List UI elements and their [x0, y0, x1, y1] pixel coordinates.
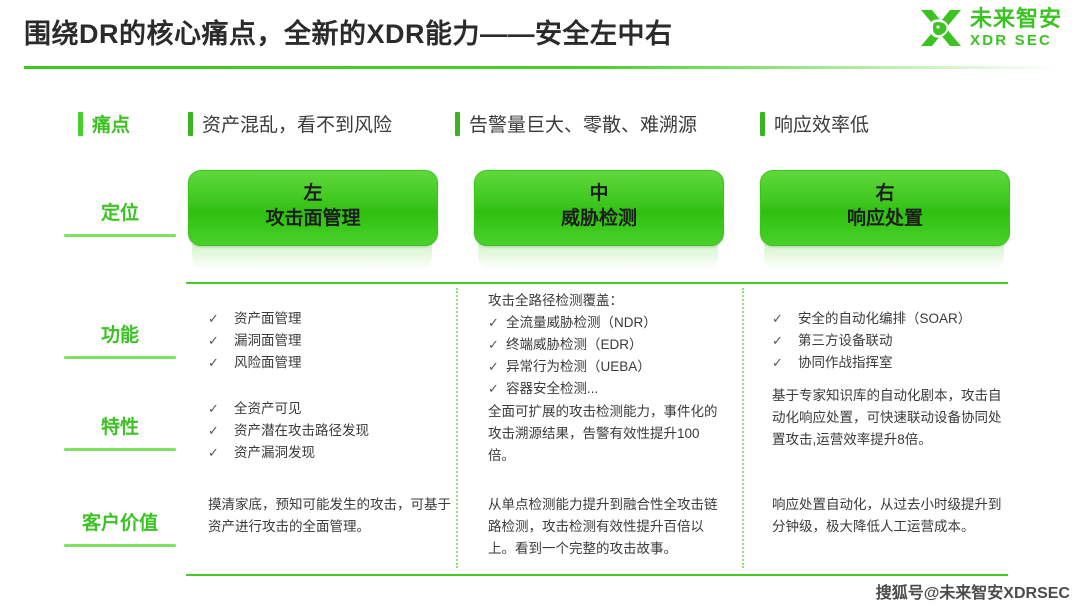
row-label-text: 客户价值 — [64, 508, 176, 535]
column-divider-1 — [456, 288, 458, 568]
check-icon: ✓ — [208, 330, 220, 351]
value-left-text: 摸清家底，预知可能发生的攻击，可基于资产进行攻击的全面管理。 — [208, 494, 456, 538]
accent-bar-icon — [78, 112, 83, 136]
list-item-text: 容器安全检测... — [506, 378, 598, 400]
row-label-text: 定位 — [64, 198, 176, 225]
list-item-text: 全资产可见 — [234, 398, 302, 420]
section-divider-bottom — [186, 574, 1008, 576]
function-cell-right: ✓安全的自动化编排（SOAR） ✓第三方设备联动 ✓协同作战指挥室 — [772, 308, 971, 374]
check-icon: ✓ — [488, 356, 500, 377]
pain-point-item-1: 资产混乱，看不到风险 — [188, 110, 392, 137]
row-label-customer-value: 客户价值 — [64, 508, 176, 547]
logo-cn: 未来智安 — [970, 8, 1062, 30]
pain-point-label-cell: 痛点 — [78, 110, 130, 137]
check-icon: ✓ — [772, 330, 784, 351]
pain-point-text: 响应效率低 — [774, 110, 869, 137]
feature-right-text: 基于专家知识库的自动化剧本，攻击自动化响应处置，可快速联动设备协同处置攻击,运营… — [772, 385, 1010, 451]
row-label-function: 功能 — [64, 320, 176, 359]
list-item: ✓异常行为检测（UEBA） — [488, 356, 657, 378]
list-item-text: 风险面管理 — [234, 352, 302, 374]
feature-middle-text: 全面可扩展的攻击检测能力，事件化的攻击溯源结果，告警有效性提升100倍。 — [488, 401, 726, 467]
list-item: ✓全资产可见 — [208, 398, 369, 420]
pain-point-item-3: 响应效率低 — [760, 110, 869, 137]
list-item-text: 异常行为检测（UEBA） — [506, 356, 651, 378]
list-item: ✓容器安全检测... — [488, 378, 657, 400]
x-fox-logo-icon — [919, 8, 963, 48]
pain-point-text: 告警量巨大、零散、难溯源 — [469, 110, 697, 137]
value-cell-right: 响应处置自动化，从过去小时级提升到分钟级，极大降低人工运营成本。 — [772, 494, 1010, 538]
position-box-reflection — [478, 244, 718, 270]
check-icon: ✓ — [208, 352, 220, 373]
row-label-underline — [64, 356, 176, 359]
function-left-list: ✓资产面管理 ✓漏洞面管理 ✓风险面管理 — [208, 308, 302, 374]
position-box-reflection — [192, 244, 432, 270]
list-item: ✓漏洞面管理 — [208, 330, 302, 352]
check-icon: ✓ — [208, 420, 220, 441]
pain-point-label: 痛点 — [92, 110, 130, 137]
pain-point-text: 资产混乱，看不到风险 — [202, 110, 392, 137]
logo-en: XDR SEC — [970, 33, 1062, 48]
accent-bar-icon — [455, 112, 460, 136]
function-right-list: ✓安全的自动化编排（SOAR） ✓第三方设备联动 ✓协同作战指挥室 — [772, 308, 971, 374]
pain-point-row: 痛点 资产混乱，看不到风险 告警量巨大、零散、难溯源 响应效率低 — [0, 106, 1080, 146]
list-item: ✓安全的自动化编排（SOAR） — [772, 308, 971, 330]
position-box-title: 左 — [303, 183, 322, 205]
value-cell-middle: 从单点检测能力提升到融合性全攻击链路检测，攻击检测有效性提升百倍以上。看到一个完… — [488, 494, 728, 560]
list-item-text: 终端威胁检测（EDR） — [506, 334, 643, 356]
accent-bar-icon — [760, 112, 765, 136]
list-item-text: 协同作战指挥室 — [798, 352, 893, 374]
row-label-underline — [64, 234, 176, 237]
value-right-text: 响应处置自动化，从过去小时级提升到分钟级，极大降低人工运营成本。 — [772, 494, 1010, 538]
function-cell-middle: 攻击全路径检测覆盖： ✓全流量威胁检测（NDR） ✓终端威胁检测（EDR） ✓异… — [488, 291, 657, 399]
row-label-feature: 特性 — [64, 412, 176, 451]
check-icon: ✓ — [488, 312, 500, 333]
position-box-subtitle: 响应处置 — [847, 205, 923, 234]
list-item-text: 第三方设备联动 — [798, 330, 893, 352]
list-item-text: 漏洞面管理 — [234, 330, 302, 352]
row-label-positioning: 定位 — [64, 198, 176, 237]
position-box-subtitle: 威胁检测 — [561, 205, 637, 234]
value-middle-text: 从单点检测能力提升到融合性全攻击链路检测，攻击检测有效性提升百倍以上。看到一个完… — [488, 494, 728, 560]
watermark: 搜狐号@未来智安XDRSEC — [876, 579, 1070, 603]
feature-left-list: ✓全资产可见 ✓资产潜在攻击路径发现 ✓资产漏洞发现 — [208, 398, 369, 464]
check-icon: ✓ — [488, 334, 500, 355]
row-label-underline — [64, 544, 176, 547]
list-item-text: 资产面管理 — [234, 308, 302, 330]
list-item-text: 资产潜在攻击路径发现 — [234, 420, 369, 442]
slide-header: 围绕DR的核心痛点，全新的XDR能力——安全左中右 未来智安 XDR SEC — [0, 0, 1080, 66]
row-label-underline — [64, 448, 176, 451]
column-divider-2 — [742, 288, 744, 568]
list-item: ✓风险面管理 — [208, 352, 302, 374]
check-icon: ✓ — [208, 442, 220, 463]
brand-logo: 未来智安 XDR SEC — [919, 8, 1062, 48]
list-item: ✓第三方设备联动 — [772, 330, 971, 352]
list-item: ✓终端威胁检测（EDR） — [488, 334, 657, 356]
feature-cell-middle: 全面可扩展的攻击检测能力，事件化的攻击溯源结果，告警有效性提升100倍。 — [488, 401, 726, 467]
pain-point-item-2: 告警量巨大、零散、难溯源 — [455, 110, 697, 137]
row-label-text: 功能 — [64, 320, 176, 347]
list-item: ✓协同作战指挥室 — [772, 352, 971, 374]
position-box-middle[interactable]: 中 威胁检测 — [474, 170, 724, 246]
check-icon: ✓ — [488, 378, 500, 399]
position-box-left[interactable]: 左 攻击面管理 — [188, 170, 438, 246]
list-item: ✓资产漏洞发现 — [208, 442, 369, 464]
function-cell-left: ✓资产面管理 ✓漏洞面管理 ✓风险面管理 — [208, 308, 302, 374]
accent-bar-icon — [188, 112, 193, 136]
check-icon: ✓ — [772, 352, 784, 373]
position-box-right[interactable]: 右 响应处置 — [760, 170, 1010, 246]
check-icon: ✓ — [772, 308, 784, 329]
feature-cell-right: 基于专家知识库的自动化剧本，攻击自动化响应处置，可快速联动设备协同处置攻击,运营… — [772, 385, 1010, 451]
list-item: ✓资产潜在攻击路径发现 — [208, 420, 369, 442]
list-item: ✓资产面管理 — [208, 308, 302, 330]
list-item-text: 安全的自动化编排（SOAR） — [798, 308, 971, 330]
slide-content: 围绕DR的核心痛点，全新的XDR能力——安全左中右 未来智安 XDR SEC 痛… — [0, 0, 1080, 609]
page-title: 围绕DR的核心痛点，全新的XDR能力——安全左中右 — [24, 12, 673, 51]
logo-text: 未来智安 XDR SEC — [970, 8, 1062, 48]
position-box-subtitle: 攻击面管理 — [265, 205, 360, 234]
check-icon: ✓ — [208, 308, 220, 329]
list-item: ✓全流量威胁检测（NDR） — [488, 312, 657, 334]
feature-cell-left: ✓全资产可见 ✓资产潜在攻击路径发现 ✓资产漏洞发现 — [208, 398, 369, 464]
check-icon: ✓ — [208, 398, 220, 419]
row-label-text: 特性 — [64, 412, 176, 439]
section-divider-top — [186, 282, 1008, 284]
value-cell-left: 摸清家底，预知可能发生的攻击，可基于资产进行攻击的全面管理。 — [208, 494, 456, 538]
list-item-text: 资产漏洞发现 — [234, 442, 315, 464]
list-item-text: 全流量威胁检测（NDR） — [506, 312, 657, 334]
header-divider — [24, 66, 1058, 69]
position-box-reflection — [764, 244, 1004, 270]
position-box-title: 右 — [875, 183, 894, 205]
position-box-title: 中 — [589, 183, 608, 205]
function-middle-lead: 攻击全路径检测覆盖： — [488, 291, 657, 312]
function-middle-list: ✓全流量威胁检测（NDR） ✓终端威胁检测（EDR） ✓异常行为检测（UEBA）… — [488, 312, 657, 399]
